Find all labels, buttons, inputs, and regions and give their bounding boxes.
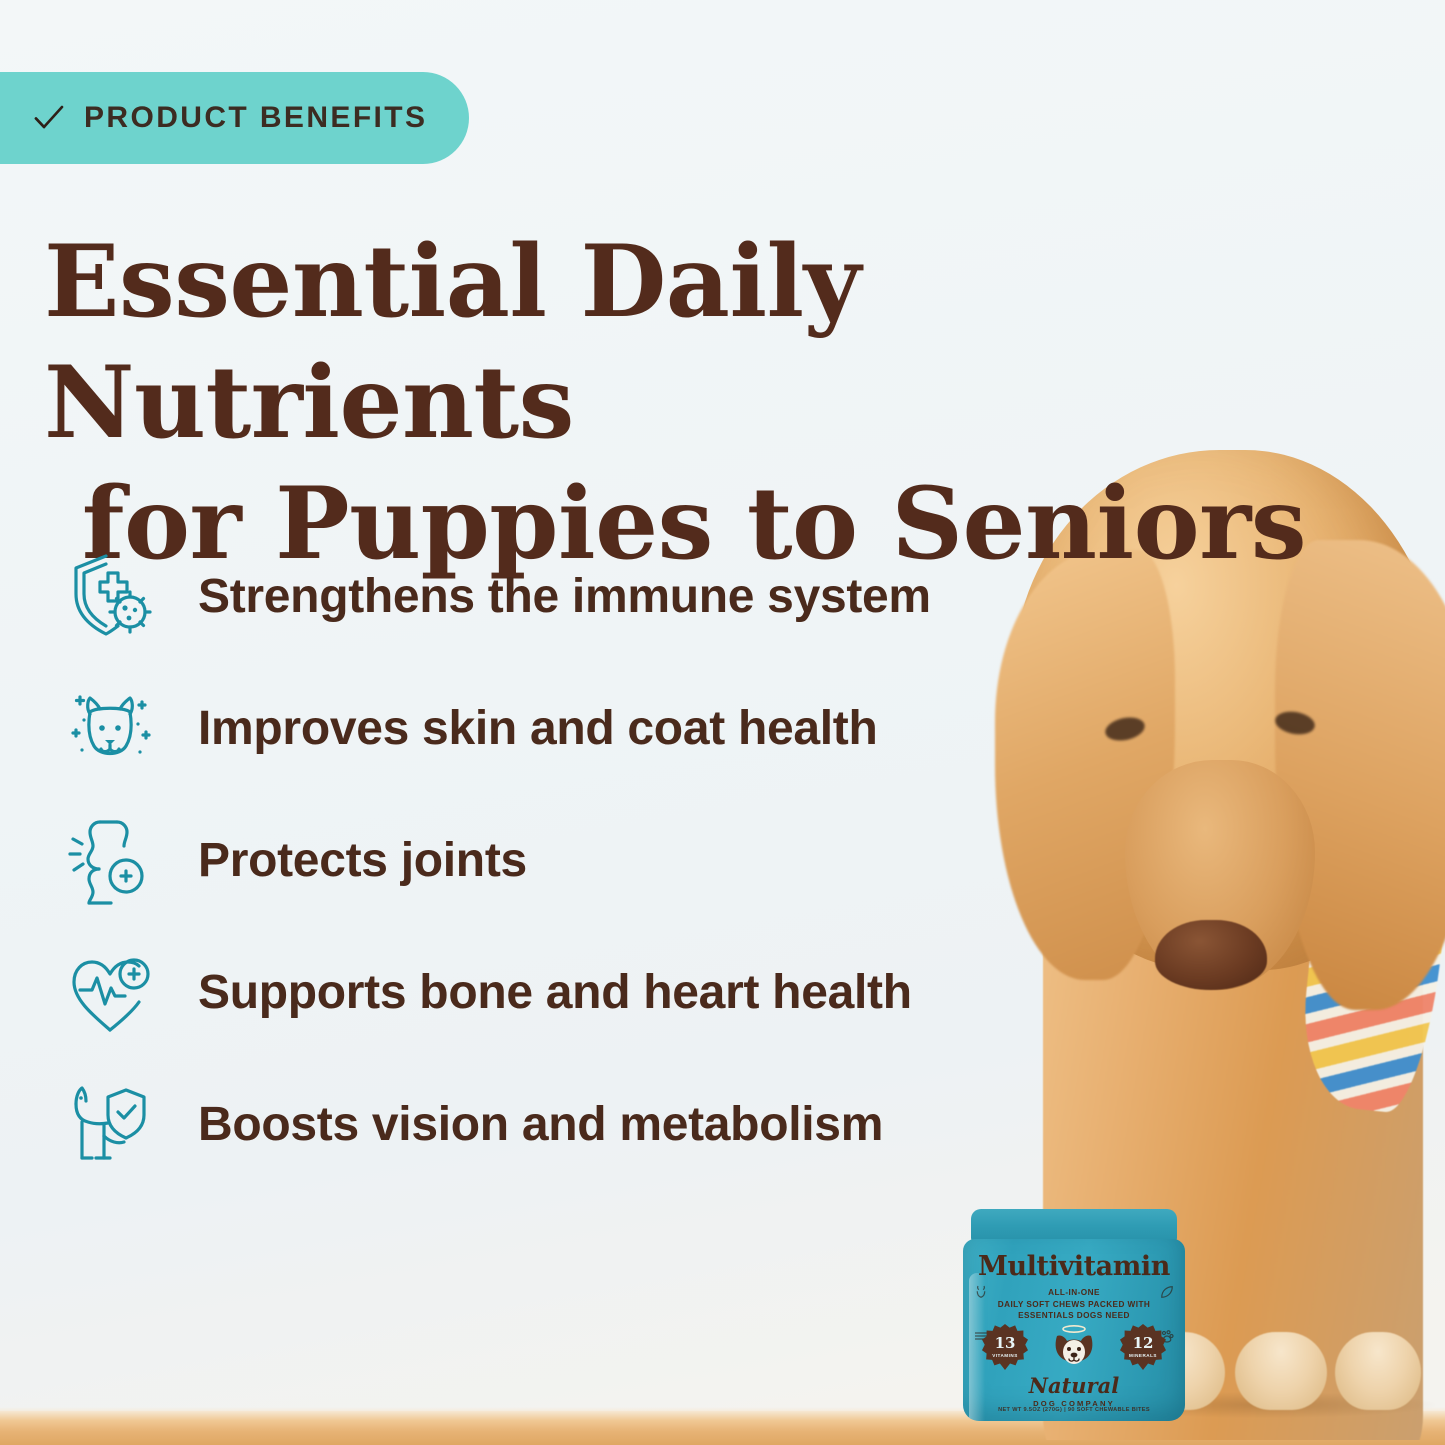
jar-label: Multivitamin ALL-IN-ONE DAILY SOFT CHEWS… [963,1239,1185,1421]
minerals-caption: MINERALS [1129,1353,1157,1358]
product-benefits-badge: PRODUCT BENEFITS [0,72,469,164]
vitamins-caption: VITAMINS [992,1353,1018,1358]
vitamins-count: 13 [995,1336,1016,1351]
badge-label: PRODUCT BENEFITS [84,101,427,135]
dog-paw [1235,1332,1327,1410]
dog-shield-check-icon [58,1072,162,1176]
benefit-label: Strengthens the immune system [198,569,931,624]
dog-nose [1155,920,1267,990]
benefit-item-vision-metabolism: Boosts vision and metabolism [58,1058,1058,1190]
benefit-label: Boosts vision and metabolism [198,1097,883,1152]
benefit-item-joints: Protects joints [58,794,1058,926]
shield-cross-germ-icon [58,544,162,648]
benefit-label: Supports bone and heart health [198,965,912,1020]
benefit-item-skin-coat: Improves skin and coat health [58,662,1058,794]
brand-name: Natural [963,1375,1185,1396]
product-benefits-graphic: PRODUCT BENEFITS Essential Daily Nutrien… [0,0,1445,1445]
jar-lid [971,1209,1177,1243]
product-subtitle-line-2: DAILY SOFT CHEWS PACKED WITH [985,1299,1163,1311]
brand-lockup: Natural DOG COMPANY [963,1375,1185,1408]
benefit-label: Protects joints [198,833,527,888]
headline-line-1: Essential Daily Nutrients [44,222,1414,464]
dog-face-sparkle-icon [58,676,162,780]
dog-paw [1335,1332,1421,1410]
product-title: Multivitamin [963,1251,1185,1282]
benefit-item-immune: Strengthens the immune system [58,530,1058,662]
minerals-count: 12 [1133,1336,1154,1351]
product-jar: Multivitamin ALL-IN-ONE DAILY SOFT CHEWS… [963,1209,1185,1421]
net-weight: NET WT 9.5OZ (270G) | 90 SOFT CHEWABLE B… [963,1407,1185,1413]
minerals-badge: 12 MINERALS [1120,1324,1166,1370]
benefit-item-bone-heart: Supports bone and heart health [58,926,1058,1058]
vitamins-badge: 13 VITAMINS [982,1324,1028,1370]
benefits-list: Strengthens the immune system [58,530,1058,1190]
dog-ear-right [1275,540,1445,1010]
joint-bone-cross-icon [58,808,162,912]
product-subtitle: ALL-IN-ONE DAILY SOFT CHEWS PACKED WITH … [985,1287,1163,1322]
product-badges: 13 VITAMINS 12 MINE [963,1321,1185,1373]
benefit-label: Improves skin and coat health [198,701,878,756]
heart-pulse-cross-icon [58,940,162,1044]
product-subtitle-line-1: ALL-IN-ONE [985,1287,1163,1299]
check-icon [32,101,66,135]
dog-halo-logo [1046,1321,1102,1373]
